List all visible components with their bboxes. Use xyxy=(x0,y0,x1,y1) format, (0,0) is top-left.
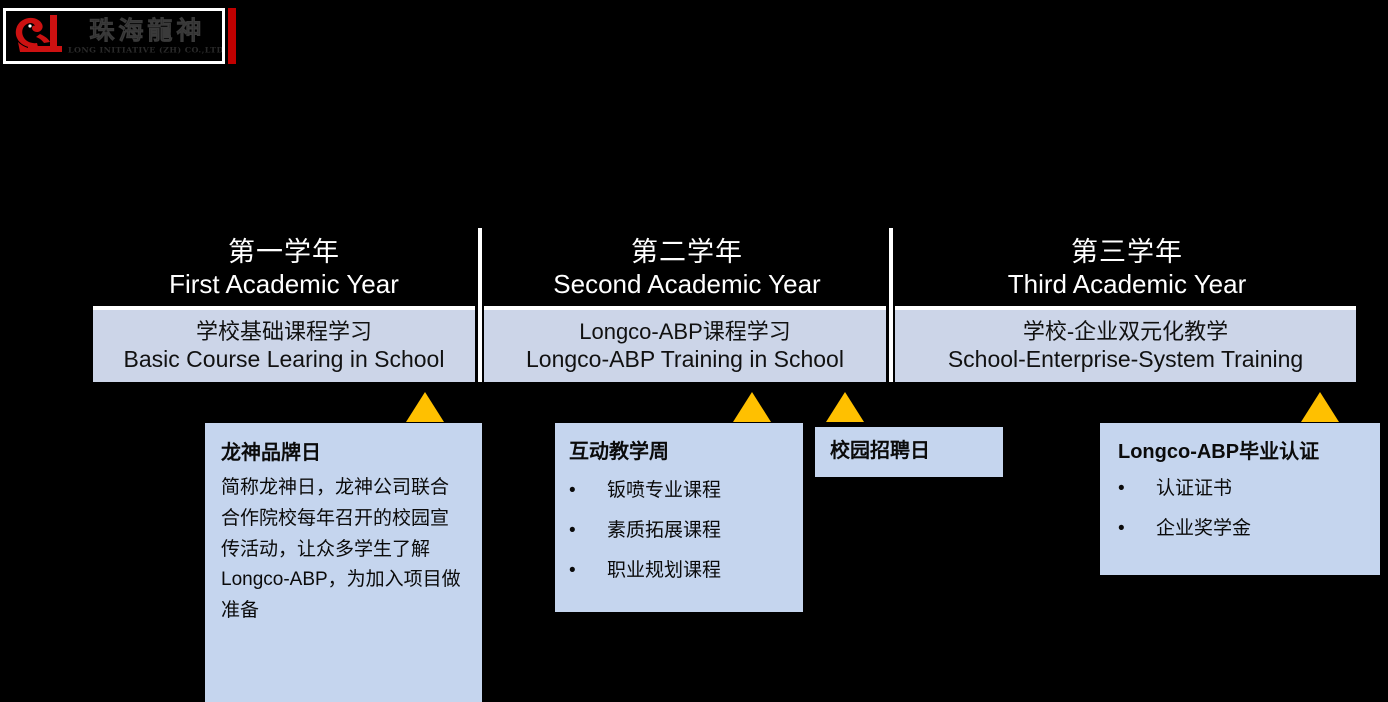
year-label-en-3: Third Academic Year xyxy=(898,269,1356,301)
info-card-teaching-week: 互动教学周 • 钣喷专业课程 • 素质拓展课程 • 职业规划课程 xyxy=(555,423,803,612)
triangle-up-icon-brand-day xyxy=(406,392,444,422)
list-item-label: 钣喷专业课程 xyxy=(607,481,721,500)
course-bar-third-year: 学校-企业双元化教学 School-Enterprise-System Trai… xyxy=(895,306,1356,382)
bullet-dot-icon: • xyxy=(569,561,607,580)
year-header-second: 第二学年 Second Academic Year xyxy=(488,236,886,301)
triangle-up-icon-teaching-week xyxy=(733,392,771,422)
list-item: • 认证证书 xyxy=(1118,479,1370,498)
list-item-label: 职业规划课程 xyxy=(607,561,721,580)
list-item: • 企业奖学金 xyxy=(1118,519,1370,538)
course-bar-cn-3: 学校-企业双元化教学 xyxy=(895,319,1356,346)
logo-chinese-name: 珠海龍神 xyxy=(68,17,225,45)
info-card-brand-day: 龙神品牌日 简称龙神日，龙神公司联合合作院校每年召开的校园宣传活动，让众多学生了… xyxy=(205,423,482,702)
dragon-l-logo-icon xyxy=(10,12,68,60)
triangle-up-icon-graduation xyxy=(1301,392,1339,422)
list-item: • 素质拓展课程 xyxy=(569,521,793,540)
card-bullet-list-teaching-week: • 钣喷专业课程 • 素质拓展课程 • 职业规划课程 xyxy=(569,481,793,580)
info-card-graduation: Longco-ABP毕业认证 • 认证证书 • 企业奖学金 xyxy=(1100,423,1380,575)
year-label-en-1: First Academic Year xyxy=(93,269,475,301)
card-title-graduation: Longco-ABP毕业认证 xyxy=(1118,440,1370,464)
list-item-label: 认证证书 xyxy=(1156,479,1232,498)
bullet-dot-icon: • xyxy=(1118,519,1156,538)
bullet-dot-icon: • xyxy=(1118,479,1156,498)
year-label-cn-2: 第二学年 xyxy=(488,236,886,269)
course-bar-cn-2: Longco-ABP课程学习 xyxy=(484,319,886,346)
list-item-label: 素质拓展课程 xyxy=(607,521,721,540)
triangle-up-icon-recruit-day xyxy=(826,392,864,422)
card-title-brand-day: 龙神品牌日 xyxy=(221,441,466,465)
year-header-third: 第三学年 Third Academic Year xyxy=(898,236,1356,301)
card-title-teaching-week: 互动教学周 xyxy=(569,440,793,464)
year-label-en-2: Second Academic Year xyxy=(488,269,886,301)
info-card-recruit-day: 校园招聘日 xyxy=(815,427,1003,477)
course-bar-first-year: 学校基础课程学习 Basic Course Learing in School xyxy=(93,306,475,382)
course-bar-cn-1: 学校基础课程学习 xyxy=(93,319,475,346)
logo-accent-bar xyxy=(228,8,236,64)
column-divider-2 xyxy=(889,228,893,382)
logo-english-name: LONG INITIATIVE (ZH) CO.,LTD. xyxy=(68,46,225,55)
list-item: • 钣喷专业课程 xyxy=(569,481,793,500)
card-bullet-list-graduation: • 认证证书 • 企业奖学金 xyxy=(1118,479,1370,538)
year-label-cn-3: 第三学年 xyxy=(898,236,1356,269)
year-label-cn-1: 第一学年 xyxy=(93,236,475,269)
list-item-label: 企业奖学金 xyxy=(1156,519,1251,538)
course-bar-second-year: Longco-ABP课程学习 Longco-ABP Training in Sc… xyxy=(484,306,886,382)
course-bar-en-2: Longco-ABP Training in School xyxy=(484,345,886,373)
bullet-dot-icon: • xyxy=(569,481,607,500)
company-logo: 珠海龍神 LONG INITIATIVE (ZH) CO.,LTD. xyxy=(3,8,225,64)
card-title-recruit-day: 校园招聘日 xyxy=(830,439,1003,463)
list-item: • 职业规划课程 xyxy=(569,561,793,580)
course-bar-en-3: School-Enterprise-System Training xyxy=(895,345,1356,373)
card-body-brand-day: 简称龙神日，龙神公司联合合作院校每年召开的校园宣传活动，让众多学生了解Longc… xyxy=(221,473,467,627)
course-bar-en-1: Basic Course Learing in School xyxy=(93,345,475,373)
year-header-first: 第一学年 First Academic Year xyxy=(93,236,475,301)
column-divider-1 xyxy=(478,228,482,382)
bullet-dot-icon: • xyxy=(569,521,607,540)
